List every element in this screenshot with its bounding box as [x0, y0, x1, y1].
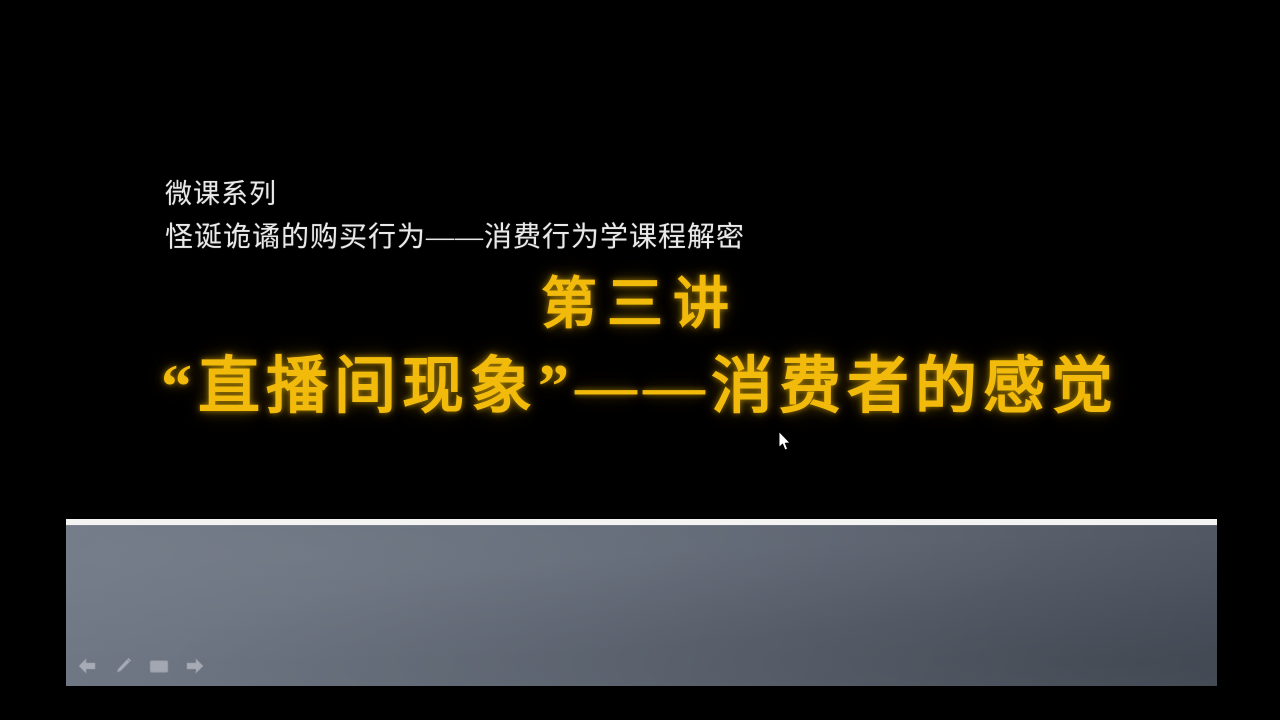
rectangle-icon [149, 659, 169, 674]
presentation-screen: 微课系列 怪诞诡谲的购买行为——消费行为学课程解密 第三讲 “直播间现象”——消… [0, 0, 1280, 720]
course-subtitle: 怪诞诡谲的购买行为——消费行为学课程解密 [165, 216, 745, 260]
arrow-right-icon [185, 658, 205, 674]
next-slide-button[interactable] [182, 655, 208, 677]
series-label: 微课系列 [165, 172, 745, 216]
lecture-number: 第三讲 [0, 272, 1280, 338]
mouse-cursor [778, 431, 792, 453]
pencil-icon [113, 656, 133, 676]
slide-header-block: 微课系列 怪诞诡谲的购买行为——消费行为学课程解密 [165, 172, 745, 260]
page-title: “直播间现象”——消费者的感觉 [0, 344, 1280, 430]
pen-tool-button[interactable] [110, 655, 136, 677]
arrow-pointer-icon [778, 440, 792, 457]
slide-content-area: 微课系列 怪诞诡谲的购买行为——消费行为学课程解密 第三讲 “直播间现象”——消… [0, 0, 1280, 510]
panel-surface[interactable] [66, 525, 1217, 686]
slide-view-button[interactable] [146, 655, 172, 677]
panel-toolbar [74, 655, 208, 677]
slide-title-block: 第三讲 “直播间现象”——消费者的感觉 [0, 272, 1280, 430]
arrow-left-icon [77, 658, 97, 674]
previous-slide-button[interactable] [74, 655, 100, 677]
presenter-panel [66, 519, 1217, 686]
